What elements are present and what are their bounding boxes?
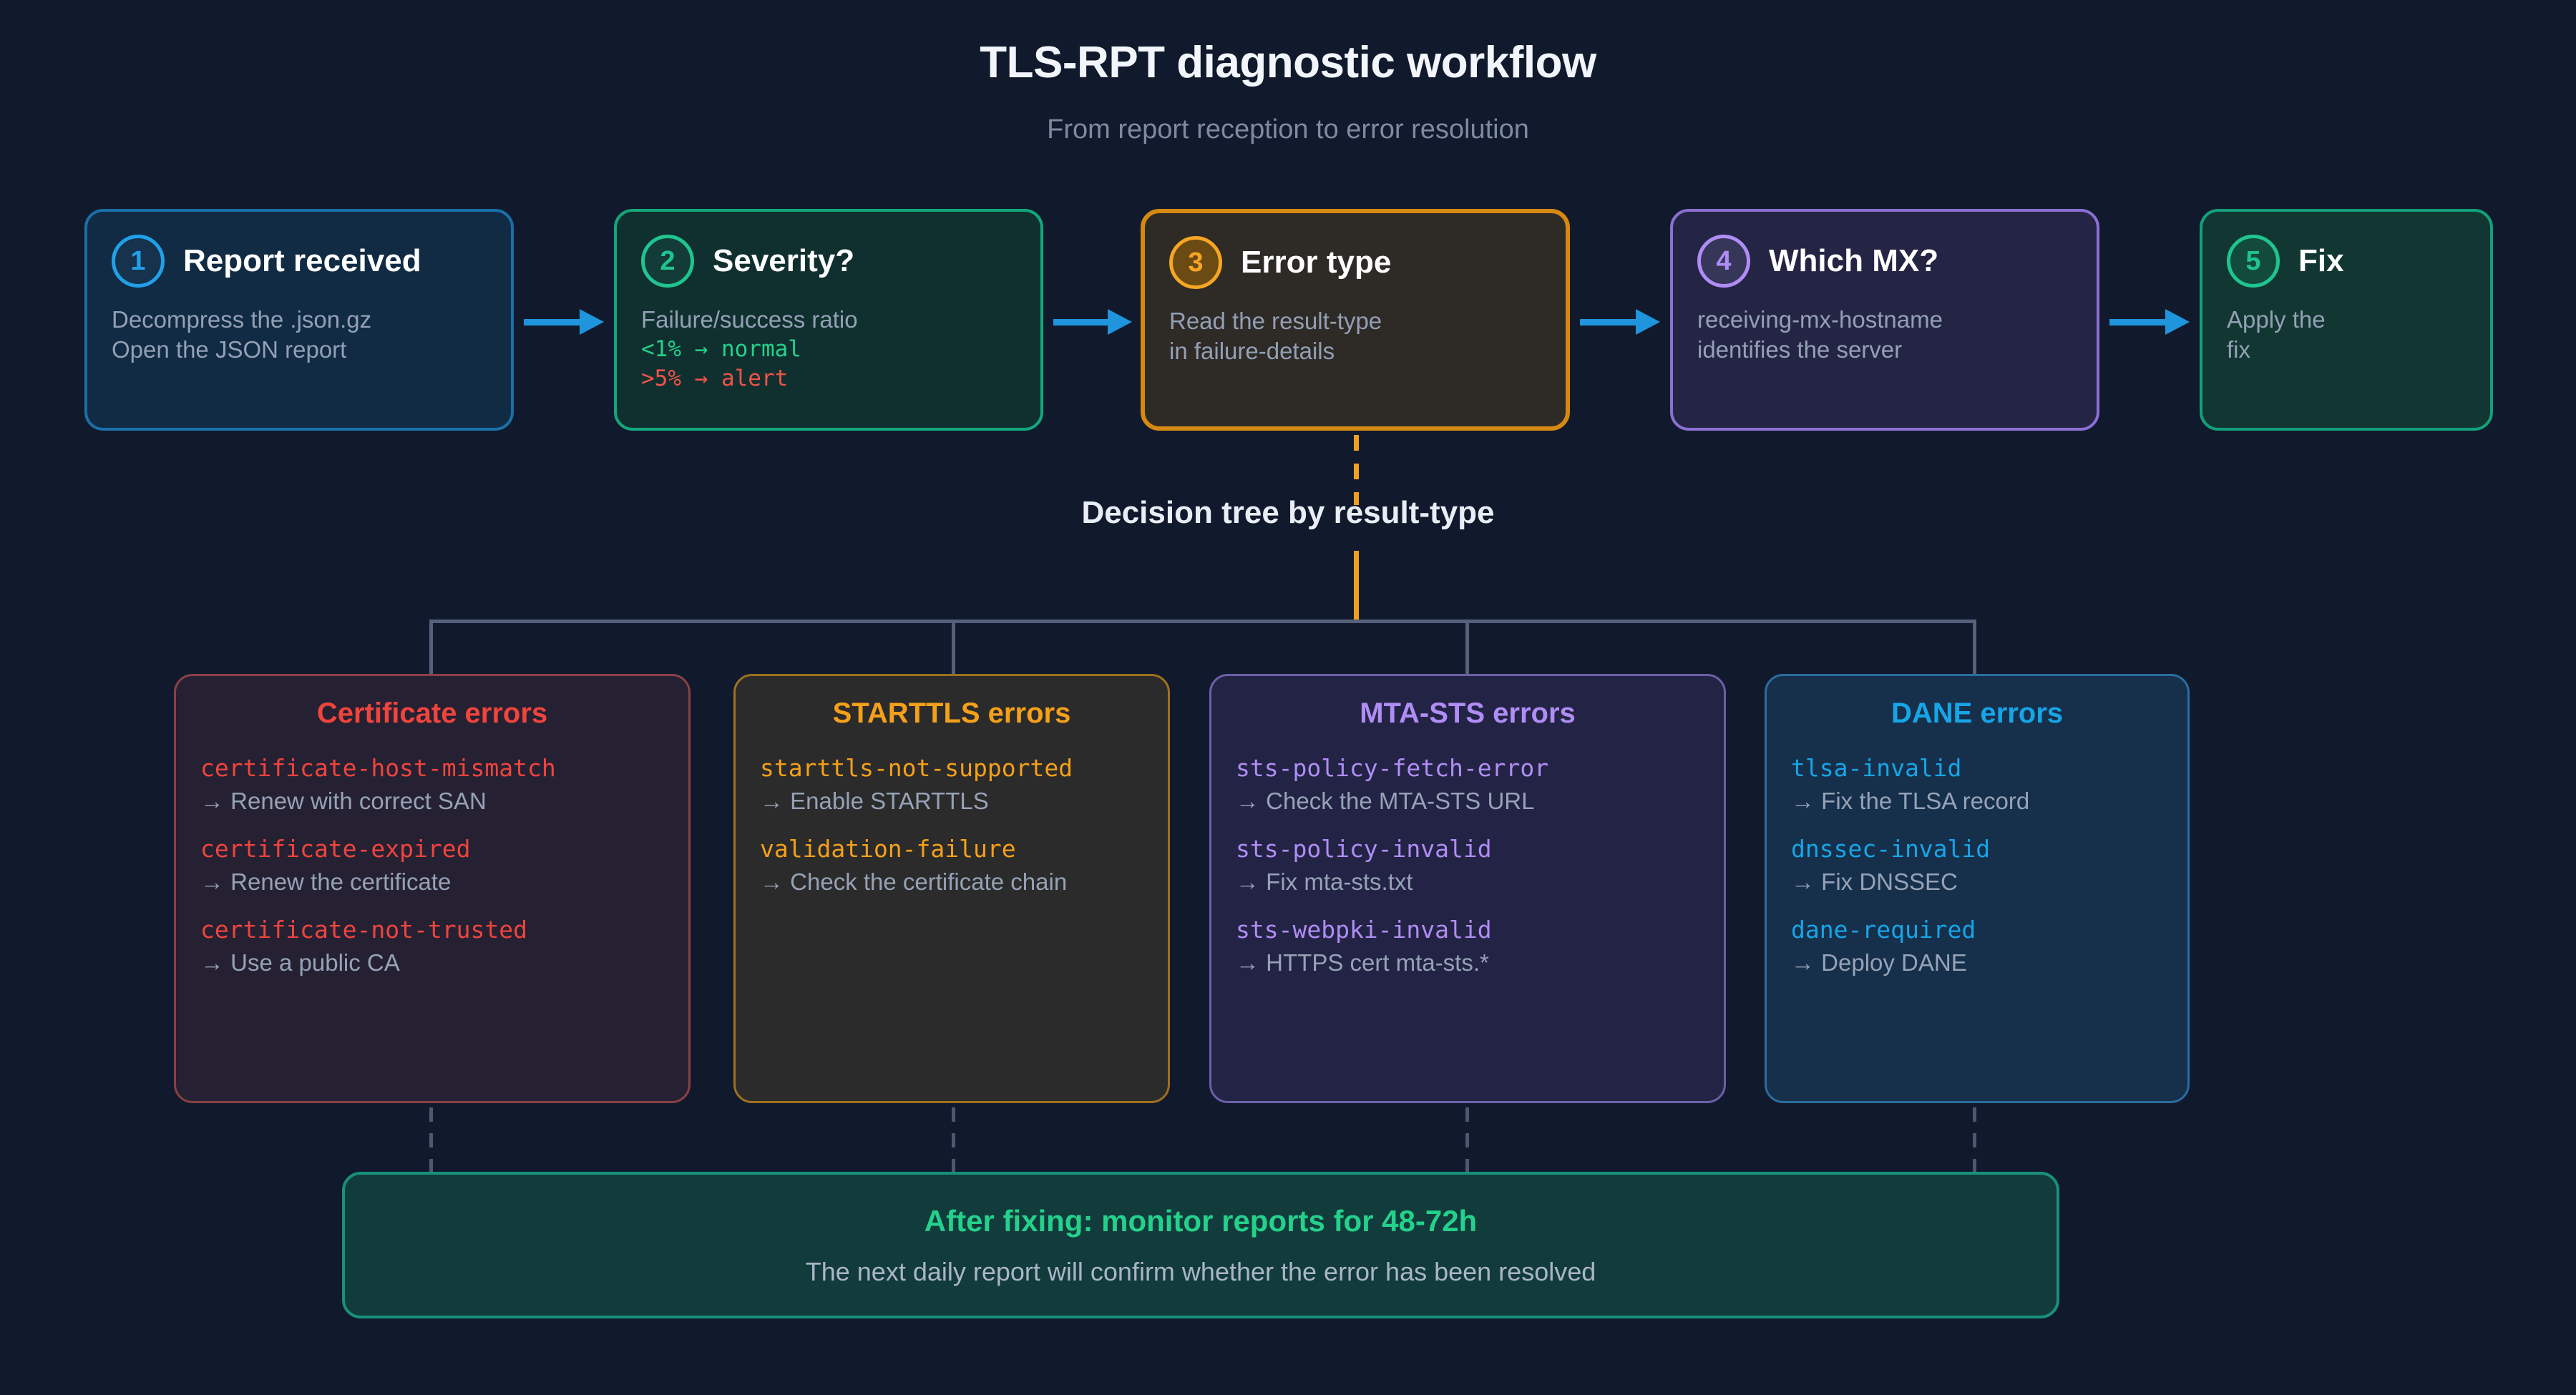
error-fix: → Renew the certificate [200, 867, 664, 897]
step-title: Error type [1241, 245, 1391, 280]
step-line: receiving-mx-hostname [1697, 305, 2072, 335]
step-title: Which MX? [1769, 243, 1938, 279]
step-box-which-mx[interactable]: 4 Which MX? receiving-mx-hostname identi… [1670, 209, 2099, 431]
arrow-shaft [524, 319, 581, 325]
step-number-badge: 5 [2227, 235, 2280, 288]
dashed-drop-starttls [952, 1107, 955, 1182]
monitoring-banner: After fixing: monitor reports for 48-72h… [342, 1172, 2059, 1318]
arrow-head-icon [1636, 309, 1660, 335]
error-entry: validation-failure → Check the certifica… [760, 835, 1143, 897]
arrow-step2-step3 [1053, 309, 1132, 335]
step-line: Apply the [2227, 305, 2466, 335]
severity-alert-rule: >5% → alert [641, 364, 1016, 393]
step-body: receiving-mx-hostname identifies the ser… [1697, 305, 2072, 365]
error-fix: → Fix mta-sts.txt [1236, 867, 1699, 897]
error-entry: dane-required → Deploy DANE [1791, 916, 2163, 978]
error-entry: sts-webpki-invalid → HTTPS cert mta-sts.… [1236, 916, 1699, 978]
step-header: 3 Error type [1169, 235, 1541, 290]
step-body: Failure/success ratio <1% → normal >5% →… [641, 305, 1016, 393]
step-box-error-type[interactable]: 3 Error type Read the result-type in fai… [1141, 209, 1570, 431]
error-code: sts-policy-fetch-error [1236, 754, 1699, 782]
error-fix: → Check the certificate chain [760, 867, 1143, 897]
tree-drop-starttls [952, 620, 955, 674]
error-entry: tlsa-invalid → Fix the TLSA record [1791, 754, 2163, 816]
step-body: Apply the fix [2227, 305, 2466, 365]
error-entry: certificate-host-mismatch → Renew with c… [200, 754, 664, 816]
step-line: Read the result-type [1169, 306, 1541, 336]
error-code: certificate-host-mismatch [200, 754, 664, 782]
step-line: identifies the server [1697, 335, 2072, 365]
arrow-shaft [1053, 319, 1109, 325]
step-header: 2 Severity? [641, 233, 1016, 289]
card-title: DANE errors [1791, 697, 2163, 730]
arrow-shaft [2109, 319, 2167, 325]
dashed-drop-mtasts [1465, 1107, 1469, 1182]
arrow-head-icon [580, 309, 604, 335]
card-title: STARTTLS errors [760, 697, 1143, 730]
error-entry: certificate-not-trusted → Use a public C… [200, 916, 664, 978]
arrow-step3-step4 [1580, 309, 1660, 335]
error-card-dane[interactable]: DANE errors tlsa-invalid → Fix the TLSA … [1765, 674, 2190, 1103]
severity-normal-rule: <1% → normal [641, 335, 1016, 363]
card-title: MTA-STS errors [1236, 697, 1699, 730]
tree-drop-mtasts [1465, 620, 1469, 674]
error-entry: certificate-expired → Renew the certific… [200, 835, 664, 897]
step-title: Fix [2298, 243, 2344, 279]
arrow-step1-step2 [524, 309, 604, 335]
step-number-badge: 2 [641, 235, 694, 288]
dashed-drop-dane [1973, 1107, 1976, 1182]
step-box-severity[interactable]: 2 Severity? Failure/success ratio <1% → … [614, 209, 1043, 431]
step-line: Open the JSON report [112, 335, 487, 365]
step-header: 4 Which MX? [1697, 233, 2072, 289]
error-code: dnssec-invalid [1791, 835, 2163, 863]
arrow-step4-step5 [2109, 309, 2190, 335]
error-fix: → Use a public CA [200, 948, 664, 978]
step-header: 5 Fix [2227, 233, 2466, 289]
error-fix: → Enable STARTTLS [760, 786, 1143, 816]
step-number-badge: 1 [112, 235, 165, 288]
step-line: fix [2227, 335, 2466, 365]
decision-tree-label: Decision tree by result-type [0, 495, 2576, 531]
error-code: certificate-expired [200, 835, 664, 863]
error-card-mtasts[interactable]: MTA-STS errors sts-policy-fetch-error → … [1209, 674, 1726, 1103]
step-header: 1 Report received [112, 233, 487, 289]
error-code: sts-webpki-invalid [1236, 916, 1699, 944]
error-code: certificate-not-trusted [200, 916, 664, 944]
step-line: Decompress the .json.gz [112, 305, 487, 335]
error-card-certificate[interactable]: Certificate errors certificate-host-mism… [174, 674, 691, 1103]
error-fix: → Fix the TLSA record [1791, 786, 2163, 816]
banner-title: After fixing: monitor reports for 48-72h [924, 1204, 1477, 1238]
tree-drop-certificate [429, 620, 433, 674]
step-line: Failure/success ratio [641, 305, 1016, 335]
step-number-badge: 4 [1697, 235, 1750, 288]
tree-horizontal-bar [429, 620, 1976, 623]
step-line: in failure-details [1169, 336, 1541, 366]
error-entry: starttls-not-supported → Enable STARTTLS [760, 754, 1143, 816]
arrow-head-icon [2165, 309, 2190, 335]
step-title: Severity? [713, 243, 854, 279]
error-entry: dnssec-invalid → Fix DNSSEC [1791, 835, 2163, 897]
error-code: sts-policy-invalid [1236, 835, 1699, 863]
step-title: Report received [183, 243, 421, 279]
page-title: TLS-RPT diagnostic workflow [0, 37, 2576, 88]
banner-subtitle: The next daily report will confirm wheth… [806, 1257, 1596, 1287]
error-fix: → Check the MTA-STS URL [1236, 786, 1699, 816]
diagram-canvas: TLS-RPT diagnostic workflow From report … [0, 0, 2576, 1395]
error-fix: → HTTPS cert mta-sts.* [1236, 948, 1699, 978]
error-fix: → Renew with correct SAN [200, 786, 664, 816]
card-title: Certificate errors [200, 697, 664, 730]
error-fix: → Deploy DANE [1791, 948, 2163, 978]
error-code: validation-failure [760, 835, 1143, 863]
arrow-shaft [1580, 319, 1637, 325]
step-box-fix[interactable]: 5 Fix Apply the fix [2200, 209, 2493, 431]
step-number-badge: 3 [1169, 236, 1222, 289]
step-box-report-received[interactable]: 1 Report received Decompress the .json.g… [84, 209, 514, 431]
connector-solid-to-branches [1354, 551, 1359, 620]
error-fix: → Fix DNSSEC [1791, 867, 2163, 897]
step-body: Decompress the .json.gz Open the JSON re… [112, 305, 487, 365]
error-card-starttls[interactable]: STARTTLS errors starttls-not-supported →… [733, 674, 1170, 1103]
error-code: dane-required [1791, 916, 2163, 944]
error-entry: sts-policy-fetch-error → Check the MTA-S… [1236, 754, 1699, 816]
error-code: tlsa-invalid [1791, 754, 2163, 782]
tree-drop-dane [1973, 620, 1976, 674]
page-subtitle: From report reception to error resolutio… [0, 114, 2576, 145]
dashed-drop-certificate [429, 1107, 433, 1182]
step-body: Read the result-type in failure-details [1169, 306, 1541, 366]
error-code: starttls-not-supported [760, 754, 1143, 782]
error-entry: sts-policy-invalid → Fix mta-sts.txt [1236, 835, 1699, 897]
arrow-head-icon [1108, 309, 1132, 335]
